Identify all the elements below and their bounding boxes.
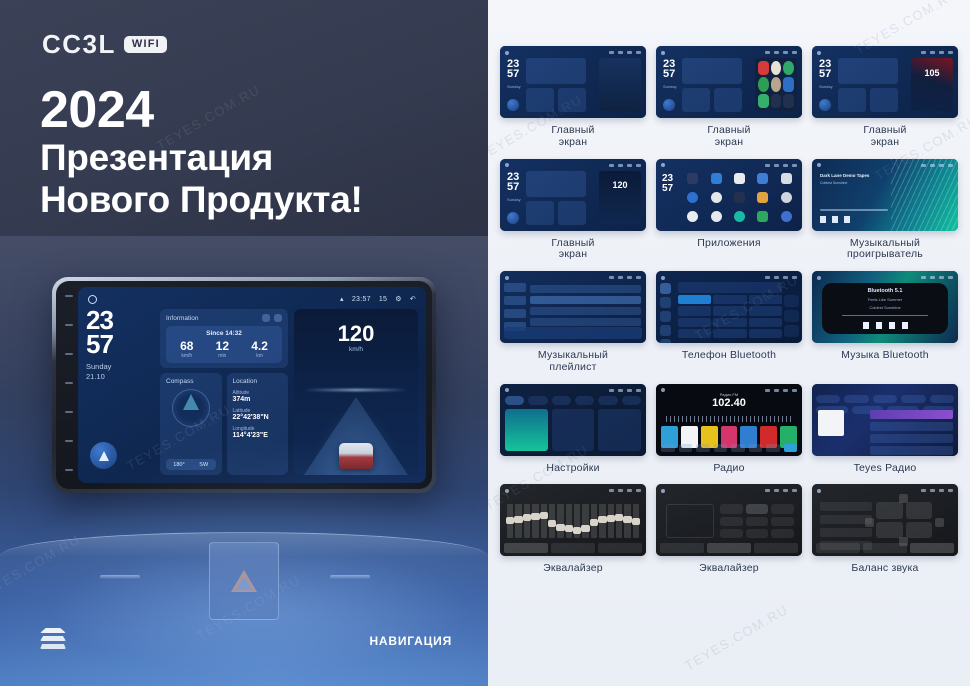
compass-card[interactable]: Compass 180° SW <box>160 373 222 475</box>
thumbnail-caption: Эквалайзер <box>543 563 603 575</box>
list-item[interactable]: 23 57 Sunday 105 Главныйэкран <box>812 46 958 149</box>
air-vent-left <box>100 575 140 579</box>
radio-tuning-scale[interactable] <box>666 416 792 422</box>
clock-day: Sunday <box>86 362 154 372</box>
wifi-icon: ▴ <box>340 295 344 303</box>
thumb-nav-fab-icon <box>507 99 519 111</box>
hardware-buttons[interactable] <box>62 295 76 471</box>
navigation-label: НАВИГАЦИЯ <box>369 634 452 648</box>
thumbnail-caption: Баланс звука <box>851 563 918 575</box>
location-card[interactable]: Location Altitude 374m Latitude 22°42'38… <box>227 373 289 475</box>
bluetooth-version-label: Bluetooth 5.1 <box>868 288 903 294</box>
compass-heading: 180° <box>173 462 184 468</box>
teyes-radio-tabs[interactable] <box>816 395 954 403</box>
music-artist: Coldest Sunshine <box>820 181 847 185</box>
radio-bottom-bar[interactable] <box>661 444 797 452</box>
hazard-light-button[interactable] <box>209 542 279 620</box>
screen-thumbnail-teyes-radio[interactable] <box>812 384 958 456</box>
speed-unit: km/h <box>294 346 418 353</box>
bluetooth-transport-controls[interactable] <box>863 322 908 329</box>
thumb-status-bar <box>812 487 958 494</box>
prev-icon[interactable] <box>820 216 826 223</box>
list-item[interactable]: 23 57 Sunday Главныйэкран <box>656 46 802 149</box>
thumb-status-bar <box>812 162 958 169</box>
equalizer-tabs[interactable] <box>504 543 642 553</box>
thumb-status-bar <box>500 387 646 394</box>
watermark: TEYES.COM.RU <box>682 602 791 673</box>
thumb-nav-fab-icon <box>507 212 519 224</box>
thumbnail-caption: Teyes Радио <box>854 463 917 475</box>
screen-body: 23 57 Sunday 21.10 <box>86 309 418 475</box>
balance-tabs[interactable] <box>816 543 954 553</box>
settings-cards[interactable] <box>505 409 641 451</box>
screen-thumbnail-home-screen-1[interactable]: 23 57 Sunday <box>500 46 646 118</box>
thumbnail-caption: Телефон Bluetooth <box>682 350 776 362</box>
bluetooth-track-title: Feels Like Summer <box>868 297 902 302</box>
thumb-status-bar <box>656 162 802 169</box>
play-pause-icon[interactable] <box>876 322 882 329</box>
trip-summary: Since 14:32 68 km/h 12 <box>166 326 282 363</box>
trip-time-value: 12 <box>216 340 229 352</box>
location-title: Location <box>233 378 283 385</box>
thumb-art <box>812 384 958 456</box>
compass-direction: SW <box>199 462 208 468</box>
status-bar-right: ▴ 23:57 15 ⚙ ↶ <box>340 295 416 303</box>
thumb-art <box>656 484 802 556</box>
head-unit-body: ▴ 23:57 15 ⚙ ↶ 23 57 Sunday <box>56 281 432 489</box>
trip-metric: 12 min <box>216 340 229 359</box>
hero-headline: 2024 Презентация Нового Продукта! <box>40 84 363 221</box>
teyes-station-list[interactable] <box>870 410 953 450</box>
thumb-status-bar <box>500 49 646 56</box>
list-item[interactable]: Баланс звука <box>812 484 958 575</box>
hero-line-2: Нового Продукта! <box>40 179 363 221</box>
thumbnail-caption: Приложения <box>697 238 760 250</box>
button-power-icon[interactable] <box>65 353 73 355</box>
teyes-now-playing <box>818 410 864 450</box>
equalizer-fader-pair[interactable] <box>666 504 714 538</box>
trip-distance-unit: km <box>251 353 268 359</box>
bluetooth-progress-bar[interactable] <box>842 315 928 317</box>
phone-dialpad[interactable] <box>678 295 782 338</box>
hazard-triangle-icon <box>231 570 257 592</box>
speed-value: 120 <box>294 323 418 345</box>
list-item[interactable]: Dark Lane Demo Tapes Coldest Sunshine Му… <box>812 159 958 262</box>
thumb-status-bar <box>656 49 802 56</box>
button-mode-icon[interactable] <box>65 295 73 297</box>
navigation-fab-button[interactable] <box>90 442 117 469</box>
clock-date: 21.10 <box>86 372 154 382</box>
compass-readout: 180° SW <box>166 459 216 470</box>
next-icon[interactable] <box>902 322 908 329</box>
screen-thumbnail-bluetooth-music[interactable]: Bluetooth 5.1 Feels Like Summer Coldest … <box>812 271 958 343</box>
screen-thumbnail-bluetooth-phone[interactable] <box>656 271 802 343</box>
playlist-sidebar[interactable] <box>504 283 526 327</box>
bluetooth-artist: Coldest Sunshine <box>869 305 900 310</box>
speed-readout: 120 km/h <box>294 323 418 353</box>
playlist-track-rows[interactable] <box>530 285 641 325</box>
thumbnail-caption: Эквалайзер <box>699 563 759 575</box>
balance-left-button[interactable] <box>865 518 874 527</box>
thumb-status-bar <box>500 487 646 494</box>
thumb-art: Радио FM 102.40 <box>656 384 802 456</box>
thumb-nav-fab-icon <box>663 99 675 111</box>
button-nav-icon[interactable] <box>65 324 73 326</box>
head-unit-bezel: ▴ 23:57 15 ⚙ ↶ 23 57 Sunday <box>52 277 436 493</box>
thumb-date: Sunday <box>507 84 521 90</box>
refresh-icon[interactable] <box>262 314 270 322</box>
equalizer-presets[interactable] <box>720 504 794 538</box>
home-icon[interactable] <box>88 295 97 304</box>
thumb-art: 23 57 Sunday <box>656 46 802 118</box>
hero-line-1: Презентация <box>40 137 363 179</box>
thumb-art <box>812 484 958 556</box>
brand-name: CC3L <box>42 31 116 57</box>
thumb-speed: 120 <box>599 180 641 190</box>
car-3d-model <box>339 443 373 469</box>
back-icon[interactable]: ↶ <box>410 295 416 303</box>
list-item[interactable]: Эквалайзер <box>500 484 646 575</box>
screen-thumbnail-equalizer-2[interactable] <box>656 484 802 556</box>
apps-icon-grid[interactable] <box>682 171 797 225</box>
thumb-status-bar <box>656 274 802 281</box>
equalizer-tabs[interactable] <box>660 543 798 553</box>
thumb-status-bar <box>812 274 958 281</box>
equalizer-sliders[interactable] <box>507 504 639 538</box>
thumb-art <box>656 271 802 343</box>
thumbnail-caption: Настройки <box>546 463 599 475</box>
list-item[interactable]: Bluetooth 5.1 Feels Like Summer Coldest … <box>812 271 958 374</box>
status-bar: ▴ 23:57 15 ⚙ ↶ <box>78 292 426 306</box>
pause-icon[interactable] <box>832 216 838 223</box>
trip-metric: 68 km/h <box>180 340 193 359</box>
thumb-art <box>500 484 646 556</box>
expand-icon[interactable] <box>274 314 282 322</box>
button-volume-up-icon[interactable] <box>65 469 73 471</box>
settings-icon[interactable]: ⚙ <box>395 295 402 303</box>
trip-time-unit: min <box>216 353 229 359</box>
thumbnail-caption: Музыкальныйплейлист <box>538 350 608 374</box>
thumb-nav-fab-icon <box>819 99 831 111</box>
playlist-mini-player[interactable] <box>504 327 642 339</box>
thumb-art: 23 57 Sunday 120 <box>500 159 646 231</box>
screens-grid: 23 57 Sunday Главныйэкран <box>500 46 958 575</box>
phone-sidebar[interactable] <box>660 283 674 337</box>
thumb-art: Dark Lane Demo Tapes Coldest Sunshine <box>812 159 958 231</box>
navigation-arrow-icon <box>99 451 109 461</box>
thumbnail-caption: Главныйэкран <box>551 238 594 262</box>
settings-tabs[interactable] <box>505 396 641 405</box>
list-item[interactable]: Радио FM 102.40 Радио <box>656 384 802 475</box>
thumbnail-caption: Радио <box>713 463 744 475</box>
screen-thumbnail-apps[interactable]: 23 57 <box>656 159 802 231</box>
head-unit-screen[interactable]: ▴ 23:57 15 ⚙ ↶ 23 57 Sunday <box>78 287 426 483</box>
driving-view[interactable]: 120 km/h <box>294 309 418 475</box>
thumb-status-bar <box>656 487 802 494</box>
thumb-status-bar <box>500 274 646 281</box>
layers-icon <box>40 628 66 652</box>
balance-front-button[interactable] <box>899 494 908 503</box>
information-title: Information <box>166 315 199 322</box>
bluetooth-player-card: Bluetooth 5.1 Feels Like Summer Coldest … <box>822 283 948 334</box>
next-icon[interactable] <box>844 216 850 223</box>
album-art <box>818 410 844 436</box>
information-card[interactable]: Information Since 14:32 <box>160 309 288 368</box>
screen-thumbnail-home-screen-3[interactable]: 23 57 Sunday 105 <box>812 46 958 118</box>
phone-number-field[interactable] <box>678 282 782 293</box>
screen-thumbnail-music-player[interactable]: Dark Lane Demo Tapes Coldest Sunshine <box>812 159 958 231</box>
hero-year: 2024 <box>40 84 363 137</box>
thumbnail-caption: Главныйэкран <box>707 125 750 149</box>
screen-thumbnail-settings[interactable] <box>500 384 646 456</box>
brand-logo: CC3L WIFI <box>42 31 167 57</box>
thumbnail-caption: Главныйэкран <box>863 125 906 149</box>
radio-frequency: 102.40 <box>656 397 802 409</box>
compass-title: Compass <box>166 378 216 385</box>
thumb-art <box>500 271 646 343</box>
list-item[interactable]: 23 57 Sunday Главныйэкран <box>500 46 646 149</box>
music-visualizer-graphic <box>891 159 958 231</box>
screens-gallery-panel: 23 57 Sunday Главныйэкран <box>488 0 970 686</box>
thumb-status-bar <box>500 162 646 169</box>
trip-speed-value: 68 <box>180 340 193 352</box>
list-item[interactable]: Teyes Радио <box>812 384 958 475</box>
prev-icon[interactable] <box>863 322 869 329</box>
presentation-page: CC3L WIFI 2024 Презентация Нового Продук… <box>0 0 970 686</box>
thumb-art: 23 57 Sunday 105 <box>812 46 958 118</box>
screen-thumbnail-home-screen-2[interactable]: 23 57 Sunday <box>656 46 802 118</box>
widget-column: Information Since 14:32 <box>160 309 288 475</box>
trip-distance-value: 4.2 <box>251 340 268 352</box>
music-transport-controls[interactable] <box>820 216 850 223</box>
volume-level: 15 <box>379 296 387 303</box>
clock-minutes: 57 <box>86 333 154 357</box>
trip-metric: 4.2 km <box>251 340 268 359</box>
information-card-header: Information <box>166 314 282 322</box>
lower-widgets: Compass 180° SW Location <box>160 373 288 475</box>
trip-metrics: 68 km/h 12 min <box>169 340 279 359</box>
altitude-value: 374m <box>233 396 283 403</box>
screen-thumbnail-music-playlist[interactable] <box>500 271 646 343</box>
button-home-icon[interactable] <box>65 382 73 384</box>
status-clock: 23:57 <box>352 296 371 303</box>
wifi-badge: WIFI <box>124 36 167 53</box>
music-track-title: Dark Lane Demo Tapes <box>820 173 869 178</box>
thumb-art <box>500 384 646 456</box>
screen-thumbnail-equalizer-1[interactable] <box>500 484 646 556</box>
hero-panel: CC3L WIFI 2024 Презентация Нового Продук… <box>0 0 488 686</box>
information-actions[interactable] <box>262 314 282 322</box>
list-item[interactable]: Музыкальныйплейлист <box>500 271 646 374</box>
balance-right-button[interactable] <box>935 518 944 527</box>
thumb-art: 23 57 Sunday <box>500 46 646 118</box>
thumbnail-caption: Музыкальныйпроигрыватель <box>847 238 923 262</box>
phone-action-buttons[interactable] <box>784 295 799 338</box>
screen-thumbnail-home-screen-4[interactable]: 23 57 Sunday 120 <box>500 159 646 231</box>
thumb-clock-min: 57 <box>507 70 519 80</box>
air-vent-right <box>330 575 370 579</box>
thumb-status-bar <box>812 49 958 56</box>
list-item[interactable]: 23 57 Sunday 120 Главныйэкран <box>500 159 646 262</box>
dashboard-photo: ▴ 23:57 15 ⚙ ↶ 23 57 Sunday <box>0 236 488 686</box>
stop-icon[interactable] <box>889 322 895 329</box>
trip-speed-unit: km/h <box>180 353 193 359</box>
music-progress-bar[interactable] <box>820 209 888 211</box>
clock-widget: 23 57 Sunday 21.10 <box>86 309 154 475</box>
button-volume-down-icon[interactable] <box>65 440 73 442</box>
compass-dial-icon <box>172 389 210 427</box>
list-item[interactable]: Настройки <box>500 384 646 475</box>
thumb-art: Bluetooth 5.1 Feels Like Summer Coldest … <box>812 271 958 343</box>
balance-seat-pad[interactable] <box>876 502 932 538</box>
thumb-art: 23 57 <box>656 159 802 231</box>
list-item[interactable]: Телефон Bluetooth <box>656 271 802 374</box>
list-item[interactable]: 23 57 Приложения <box>656 159 802 262</box>
latitude-value: 22°42'38"N <box>233 414 283 421</box>
screen-thumbnail-sound-balance[interactable] <box>812 484 958 556</box>
longitude-value: 114°4'23"E <box>233 432 283 439</box>
thumbnail-caption: Главныйэкран <box>551 125 594 149</box>
trip-since: Since 14:32 <box>169 330 279 337</box>
thumbnail-caption: Музыка Bluetooth <box>841 350 929 362</box>
screen-thumbnail-radio[interactable]: Радио FM 102.40 <box>656 384 802 456</box>
list-item[interactable]: Эквалайзер <box>656 484 802 575</box>
button-back-icon[interactable] <box>65 411 73 413</box>
